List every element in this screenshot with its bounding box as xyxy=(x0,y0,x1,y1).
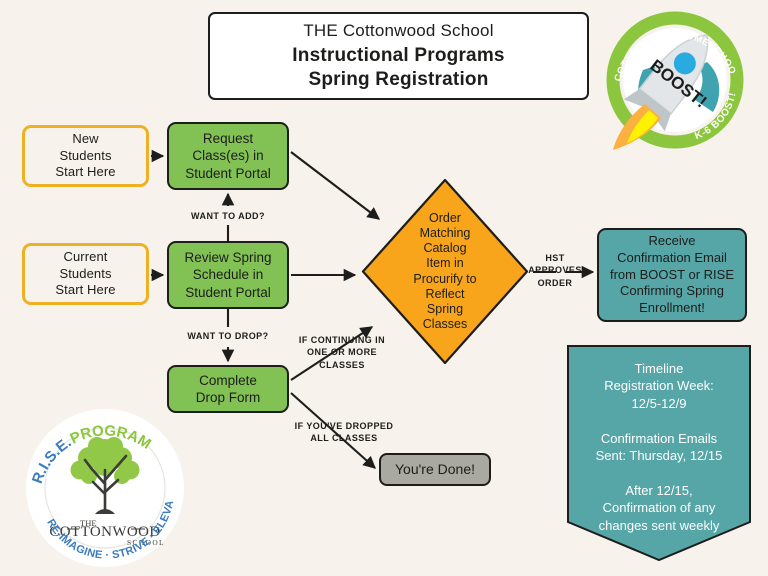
rise-program-logo: THE COTTONWOOD SCHOOL R.I.S.E. PROGRAM R… xyxy=(23,406,188,571)
title-line-2: Instructional Programs xyxy=(292,44,504,68)
boost-logo: BOOST! COTTONWOOD HOMESCHOOL K-6 BOOST! xyxy=(599,4,751,156)
flowchart-canvas: THE Cottonwood School Instructional Prog… xyxy=(0,0,768,576)
process-review-schedule: Review Spring Schedule in Student Portal xyxy=(167,241,289,309)
pennant-shape xyxy=(566,344,752,562)
edge-label-want-to-add: WANT TO ADD? xyxy=(160,210,296,222)
process-request-classes: Request Class(es) in Student Portal xyxy=(167,122,289,190)
edge-label-if-continuing: IF CONTINUING IN ONE OR MORE CLASSES xyxy=(283,334,401,371)
edge-label-want-to-drop: WANT TO DROP? xyxy=(160,330,296,342)
edge-label-if-dropped-all: IF YOU'VE DROPPED ALL CLASSES xyxy=(283,420,405,445)
edge-label-hst-approves-order: HST APPROVES ORDER xyxy=(516,252,594,289)
title-line-1: THE Cottonwood School xyxy=(303,20,493,42)
boost-badge-graphic: BOOST! COTTONWOOD HOMESCHOOL K-6 BOOST! xyxy=(599,4,751,156)
rise-badge-graphic: THE COTTONWOOD SCHOOL R.I.S.E. PROGRAM R… xyxy=(23,406,188,571)
timeline-banner: Timeline Registration Week: 12/5-12/9 Co… xyxy=(566,344,752,562)
title-line-3: Spring Registration xyxy=(308,68,488,92)
page-title: THE Cottonwood School Instructional Prog… xyxy=(208,12,589,100)
terminal-youre-done: You're Done! xyxy=(379,453,491,486)
outcome-receive-confirmation-email: Receive Confirmation Email from BOOST or… xyxy=(597,228,747,322)
start-node-current-students: Current Students Start Here xyxy=(22,243,149,305)
start-node-new-students: New Students Start Here xyxy=(22,125,149,187)
